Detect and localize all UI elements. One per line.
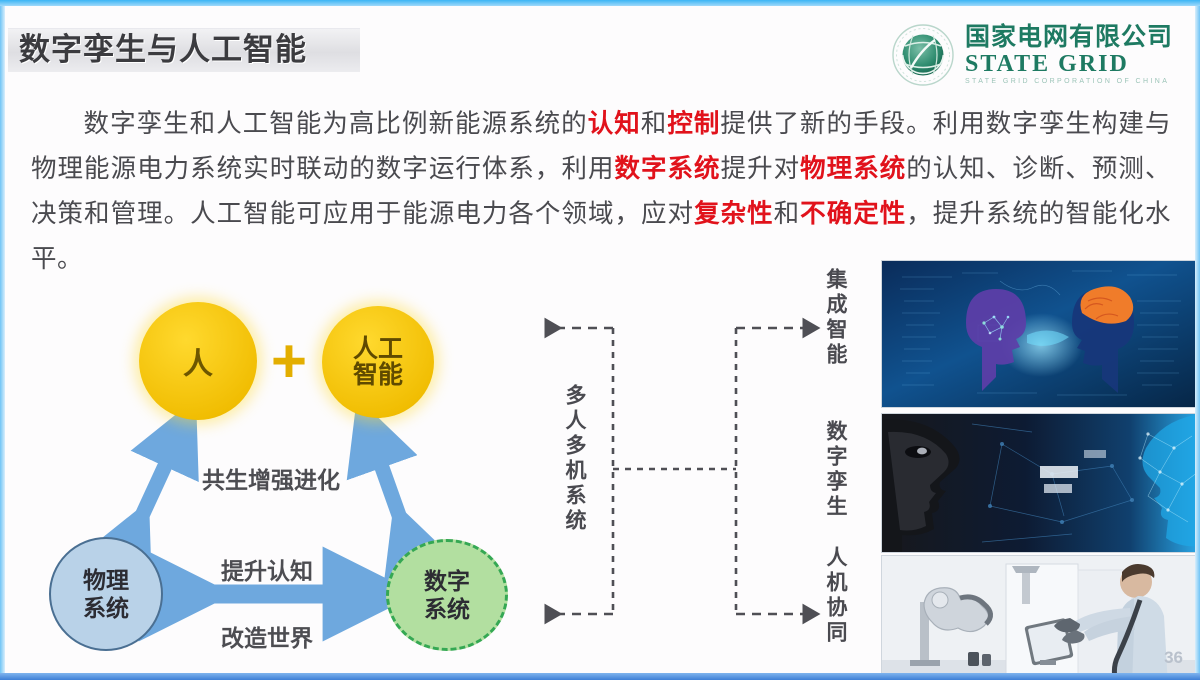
- node-digital-system[interactable]: 数字 系统: [386, 539, 508, 651]
- highlight-digital-system: 数字系统: [614, 155, 720, 183]
- vlabel-integrated-intelligence: 集成智能: [820, 268, 850, 368]
- logo-english-name: STATE GRID: [965, 52, 1173, 76]
- paragraph-seg-4: 提升对: [721, 155, 801, 183]
- player-frame-left: [0, 0, 5, 680]
- paragraph-seg-1: 数字孪生和人工智能为高比例新能源系统的: [83, 110, 588, 138]
- node-ai-label-line1: 人工: [353, 336, 403, 362]
- arrow-digital-ai: [369, 431, 406, 535]
- vlabel-multi-agent-system: 多人多机系统: [559, 384, 589, 534]
- slide-header: 数字孪生与人工智能: [5, 6, 1195, 88]
- node-person-label: 人: [183, 339, 213, 383]
- arrow-physical-person: [134, 431, 181, 533]
- paragraph-seg-2: 和: [641, 110, 668, 138]
- node-physical-label-line1: 物理: [83, 566, 129, 594]
- slide-canvas: 数字孪生与人工智能: [5, 6, 1195, 673]
- highlight-cognition: 认知: [588, 110, 641, 138]
- state-grid-logo: 国家电网有限公司 STATE GRID STATE GRID CORPORATI…: [891, 24, 1173, 86]
- vlabel-digital-twin: 数字孪生: [820, 420, 850, 520]
- highlight-physical-system: 物理系统: [800, 155, 906, 183]
- highlight-complexity: 复杂性: [694, 200, 774, 228]
- label-symbiotic-evolution: 共生增强进化: [202, 461, 340, 495]
- page-number: 36: [1164, 648, 1183, 668]
- plus-icon: +: [261, 336, 317, 392]
- photo-human-to-digital-face: [881, 413, 1195, 553]
- logo-wordmark: 国家电网有限公司 STATE GRID STATE GRID CORPORATI…: [965, 25, 1173, 85]
- logo-subtitle: STATE GRID CORPORATION OF CHINA: [965, 78, 1173, 85]
- photo-human-robot-collaboration: [881, 555, 1195, 673]
- logo-chinese-name: 国家电网有限公司: [965, 25, 1173, 50]
- state-grid-globe-icon: [891, 24, 955, 86]
- paragraph-seg-6: 和: [774, 200, 801, 228]
- highlight-control: 控制: [667, 110, 720, 138]
- page-title: 数字孪生与人工智能: [19, 29, 307, 71]
- node-digital-label-line1: 数字: [424, 567, 470, 595]
- vlabel-human-machine-collaboration: 人机协同: [820, 546, 850, 646]
- player-frame-bottom: [0, 673, 1200, 680]
- node-artificial-intelligence[interactable]: 人工 智能: [322, 306, 434, 418]
- highlight-uncertainty: 不确定性: [800, 200, 906, 228]
- body-paragraph: 数字孪生和人工智能为高比例新能源系统的认知和控制提供了新的手段。利用数字孪生构建…: [31, 102, 1171, 282]
- node-digital-label-line2: 系统: [424, 595, 470, 623]
- player-frame-right: [1195, 0, 1200, 680]
- photo-two-heads-brain-ai: [881, 260, 1195, 408]
- label-improve-cognition: 提升认知: [221, 552, 313, 586]
- node-physical-system[interactable]: 物理 系统: [49, 537, 163, 651]
- node-person[interactable]: 人: [139, 302, 257, 420]
- player-frame-top: [0, 0, 1200, 6]
- node-ai-label-line2: 智能: [353, 362, 403, 388]
- node-physical-label-line2: 系统: [83, 594, 129, 622]
- label-transform-world: 改造世界: [221, 619, 313, 653]
